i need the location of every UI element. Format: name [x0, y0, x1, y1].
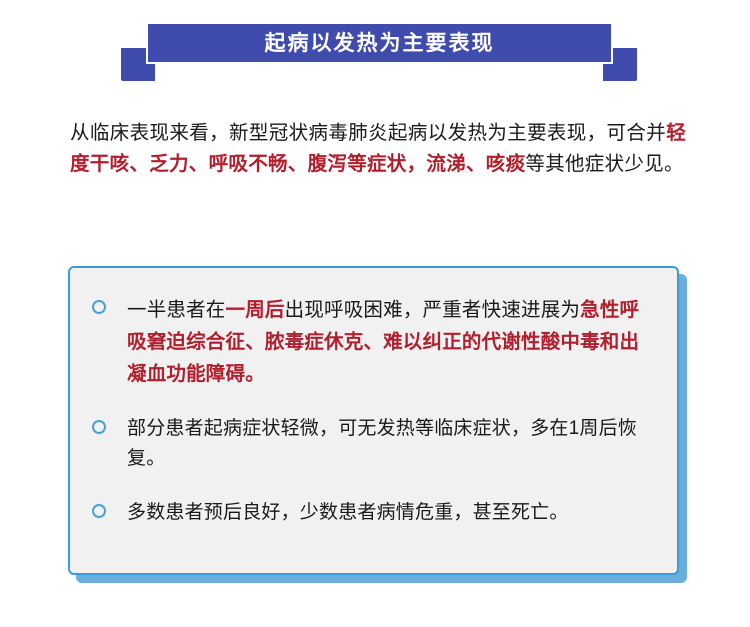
list-item-text: 一半患者在一周后出现呼吸困难，严重者快速进展为急性呼吸窘迫综合征、脓毒症休克、难… — [127, 294, 653, 390]
intro-segment-plain-2: 等其他症状少见。 — [525, 153, 683, 175]
list-item: 多数患者预后良好，少数患者病情危重，甚至死亡。 — [92, 498, 653, 528]
list-item: 部分患者起病症状轻微，可无发热等临床症状，多在1周后恢复。 — [92, 414, 653, 474]
circle-bullet-icon — [92, 300, 106, 314]
list-item: 一半患者在一周后出现呼吸困难，严重者快速进展为急性呼吸窘迫综合征、脓毒症休克、难… — [92, 294, 653, 390]
title-banner: 起病以发热为主要表现 — [0, 22, 750, 84]
list-item-1-plain-2: 出现呼吸困难，严重者快速进展为 — [285, 299, 581, 321]
intro-paragraph: 从临床表现来看，新型冠状病毒肺炎起病以发热为主要表现，可合并轻度干咳、乏力、呼吸… — [70, 118, 686, 180]
circle-bullet-icon — [92, 504, 106, 518]
list-item-1-plain-1: 一半患者在 — [127, 299, 226, 321]
banner-bar: 起病以发热为主要表现 — [146, 22, 613, 64]
circle-bullet-icon — [92, 420, 106, 434]
list-item-text: 多数患者预后良好，少数患者病情危重，甚至死亡。 — [127, 498, 653, 528]
list-item-text: 部分患者起病症状轻微，可无发热等临床症状，多在1周后恢复。 — [127, 414, 653, 474]
page-title: 起病以发热为主要表现 — [265, 33, 495, 54]
list-item-1-highlight-1: 一周后 — [226, 299, 285, 321]
bullet-list: 一半患者在一周后出现呼吸困难，严重者快速进展为急性呼吸窘迫综合征、脓毒症休克、难… — [70, 268, 677, 573]
bullet-box: 一半患者在一周后出现呼吸困难，严重者快速进展为急性呼吸窘迫综合征、脓毒症休克、难… — [68, 266, 679, 575]
intro-segment-plain-1: 从临床表现来看，新型冠状病毒肺炎起病以发热为主要表现，可合并 — [70, 122, 666, 144]
